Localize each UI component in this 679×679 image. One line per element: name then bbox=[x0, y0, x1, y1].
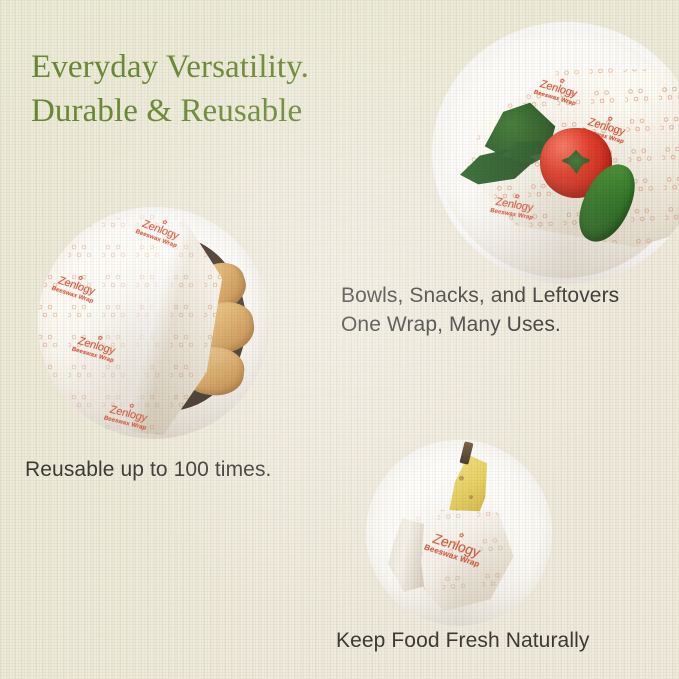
photo-shadow bbox=[366, 440, 552, 626]
photo-veggies-wrap: ✿ Zenlogy Beeswax Wrap ✿ Zenlogy Beeswax… bbox=[432, 22, 679, 284]
banana-scene: ✿ Zenlogy Beeswax Wrap bbox=[366, 440, 552, 626]
caption-keep-fresh: Keep Food Fresh Naturally bbox=[336, 627, 589, 656]
veggies-scene: ✿ Zenlogy Beeswax Wrap ✿ Zenlogy Beeswax… bbox=[432, 22, 679, 284]
photo-shadow bbox=[432, 22, 679, 284]
photo-bowl-wrap: ✿ Zenlogy Beeswax Wrap ✿ Zenlogy Beeswax… bbox=[38, 207, 270, 439]
bowl-scene: ✿ Zenlogy Beeswax Wrap ✿ Zenlogy Beeswax… bbox=[38, 207, 270, 439]
caption-bowls: Bowls, Snacks, and Leftovers One Wrap, M… bbox=[341, 282, 679, 339]
headline-line-2: Durable & Reusable bbox=[31, 89, 461, 133]
caption-bowls-line-2: One Wrap, Many Uses. bbox=[341, 311, 679, 340]
caption-bowls-line-1: Bowls, Snacks, and Leftovers bbox=[341, 282, 679, 311]
product-feature-image: ✿ Zenlogy Beeswax Wrap ✿ Zenlogy Beeswax… bbox=[0, 0, 679, 679]
photo-shadow bbox=[38, 207, 270, 439]
photo-banana-wrap: ✿ Zenlogy Beeswax Wrap bbox=[366, 440, 552, 626]
caption-reusable: Reusable up to 100 times. bbox=[25, 456, 271, 485]
headline-line-1: Everyday Versatility. bbox=[31, 45, 461, 89]
page-title: Everyday Versatility. Durable & Reusable bbox=[31, 45, 461, 133]
